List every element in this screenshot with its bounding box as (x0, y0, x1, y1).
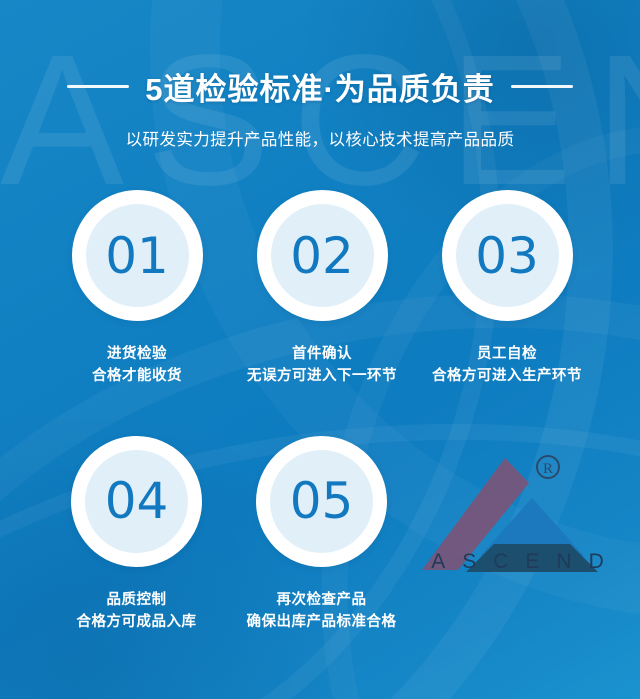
step-title-01: 进货检验 (92, 343, 182, 365)
step-caption-01: 进货检验 合格才能收货 (92, 343, 182, 388)
poster-root: ASCEND 5道检验标准·为品质负责 以研发实力提升产品性能，以核心技术提高产… (0, 0, 640, 699)
step-caption-04: 品质控制 合格方可成品入库 (77, 589, 197, 634)
step-item-04: 04 品质控制 合格方可成品入库 (71, 436, 202, 634)
step-circle-inner-02: 02 (271, 204, 374, 307)
step-circle-02: 02 (257, 190, 388, 321)
step-desc-03: 合格方可进入生产环节 (432, 365, 582, 387)
page-title: 5道检验标准·为品质负责 (145, 64, 495, 109)
step-number-05: 05 (290, 476, 354, 526)
step-number-01: 01 (105, 231, 169, 281)
step-caption-05: 再次检查产品 确保出库产品标准合格 (247, 589, 397, 634)
step-number-02: 02 (290, 231, 354, 281)
title-row: 5道检验标准·为品质负责 (0, 64, 640, 109)
step-circle-inner-01: 01 (86, 204, 189, 307)
step-title-05: 再次检查产品 (247, 589, 397, 611)
step-caption-03: 员工自检 合格方可进入生产环节 (432, 343, 582, 388)
step-circle-inner-05: 05 (270, 450, 373, 553)
title-rule-right-icon (511, 85, 573, 88)
logo-registered-glyph-icon: R (543, 461, 553, 477)
step-item-05: 05 再次检查产品 确保出库产品标准合格 (256, 436, 387, 634)
step-item-02: 02 首件确认 无误方可进入下一环节 (257, 190, 388, 388)
header: 5道检验标准·为品质负责 以研发实力提升产品性能，以核心技术提高产品品质 (0, 64, 640, 150)
step-desc-02: 无误方可进入下一环节 (247, 365, 397, 387)
step-item-01: 01 进货检验 合格才能收货 (72, 190, 203, 388)
step-circle-inner-03: 03 (456, 204, 559, 307)
brand-wordmark: ASCEND (420, 550, 632, 574)
step-desc-04: 合格方可成品入库 (77, 611, 197, 633)
step-circle-01: 01 (72, 190, 203, 321)
step-circle-05: 05 (256, 436, 387, 567)
step-title-03: 员工自检 (432, 343, 582, 365)
page-subtitle: 以研发实力提升产品性能，以核心技术提高产品品质 (0, 126, 640, 150)
step-desc-05: 确保出库产品标准合格 (247, 611, 397, 633)
step-desc-01: 合格才能收货 (92, 365, 182, 387)
title-rule-left-icon (67, 85, 129, 88)
steps-row-top: 01 进货检验 合格才能收货 02 首件确认 无误方可进入下一环节 (0, 190, 640, 388)
step-item-03: 03 员工自检 合格方可进入生产环节 (442, 190, 573, 388)
step-number-04: 04 (105, 476, 169, 526)
brand-logo-mark-icon: R (412, 440, 634, 600)
step-title-02: 首件确认 (247, 343, 397, 365)
step-circle-inner-04: 04 (85, 450, 188, 553)
step-circle-03: 03 (442, 190, 573, 321)
brand-logo: R ASCEND (412, 440, 634, 600)
step-circle-04: 04 (71, 436, 202, 567)
step-number-03: 03 (475, 231, 539, 281)
step-caption-02: 首件确认 无误方可进入下一环节 (247, 343, 397, 388)
step-title-04: 品质控制 (77, 589, 197, 611)
